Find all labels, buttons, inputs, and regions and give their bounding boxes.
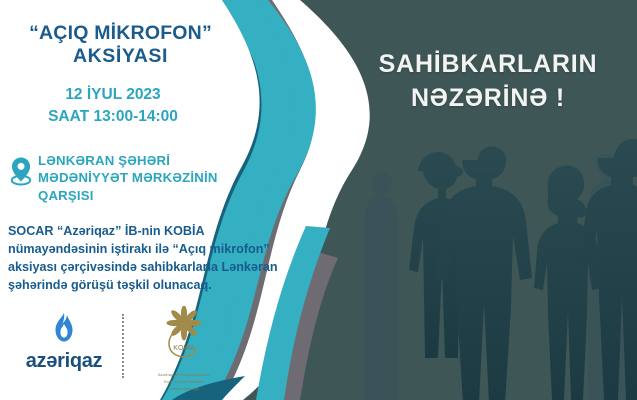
kobia-subtitle-line-2: Kiçik və Orta Biznesin [138, 379, 230, 385]
kobia-subtitle-line-3: İnkişafı Agentliyi [138, 386, 230, 392]
headline-line-1: SAHİBKARLARIN [352, 48, 624, 82]
venue-line-2: MƏDƏNİYYƏT MƏRKƏZİNİN [38, 169, 248, 186]
azeriqaz-wordmark: azəriqaz [16, 350, 112, 373]
description-line-2: nümayəndəsinin iştirakı ilə “Açıq mikrof… [8, 240, 308, 258]
left-information-column: “AÇIQ MİKROFON” AKSİYASI 12 İYUL 2023 SA… [0, 0, 300, 400]
event-title-line-1: “AÇIQ MİKROFON” [8, 22, 233, 45]
attention-headline: SAHİBKARLARIN NƏZƏRİNƏ ! [352, 48, 624, 116]
azeriqaz-logo: azəriqaz [16, 312, 112, 373]
logo-divider [122, 314, 124, 378]
event-description: SOCAR “Azəriqaz” İB-nin KOBİA nümayəndəs… [8, 222, 308, 294]
poster-root: “AÇIQ MİKROFON” AKSİYASI 12 İYUL 2023 SA… [0, 0, 637, 400]
location-pin-icon [8, 156, 34, 186]
event-title: “AÇIQ MİKROFON” AKSİYASI [8, 22, 233, 68]
kobia-wordmark: KOBİA [173, 343, 195, 352]
event-venue: LƏNKƏRAN ŞƏHƏRİ MƏDƏNİYYƏT MƏRKƏZİNİN QA… [8, 152, 248, 204]
event-date: 12 İYUL 2023 [8, 84, 218, 106]
venue-line-3: QARŞISI [38, 187, 248, 204]
headline-line-2: NƏZƏRİNƏ ! [352, 82, 624, 116]
kobia-logo: KOBİA Azərbaycan Respublikasının Kiçik v… [138, 306, 230, 392]
location-pin-icon-wrap [8, 152, 38, 191]
description-line-4: şəhərində görüşü təşkil olunacaq. [8, 276, 308, 294]
kobia-subtitle-line-1: Azərbaycan Respublikasının [138, 372, 230, 378]
poster-text-layer: “AÇIQ MİKROFON” AKSİYASI 12 İYUL 2023 SA… [0, 0, 637, 400]
kobia-flower-icon: KOBİA [154, 306, 214, 366]
event-datetime: 12 İYUL 2023 SAAT 13:00-14:00 [8, 84, 218, 128]
venue-line-1: LƏNKƏRAN ŞƏHƏRİ [38, 152, 248, 169]
description-line-1: SOCAR “Azəriqaz” İB-nin KOBİA [8, 222, 308, 240]
gas-flame-icon [49, 312, 79, 344]
logo-row: azəriqaz [10, 306, 230, 392]
event-venue-lines: LƏNKƏRAN ŞƏHƏRİ MƏDƏNİYYƏT MƏRKƏZİNİN QA… [38, 152, 248, 204]
description-line-3: aksiyası çərçivəsində sahibkarlarla Lənk… [8, 258, 308, 276]
event-time: SAAT 13:00-14:00 [8, 106, 218, 128]
event-title-line-2: AKSİYASI [8, 45, 233, 68]
